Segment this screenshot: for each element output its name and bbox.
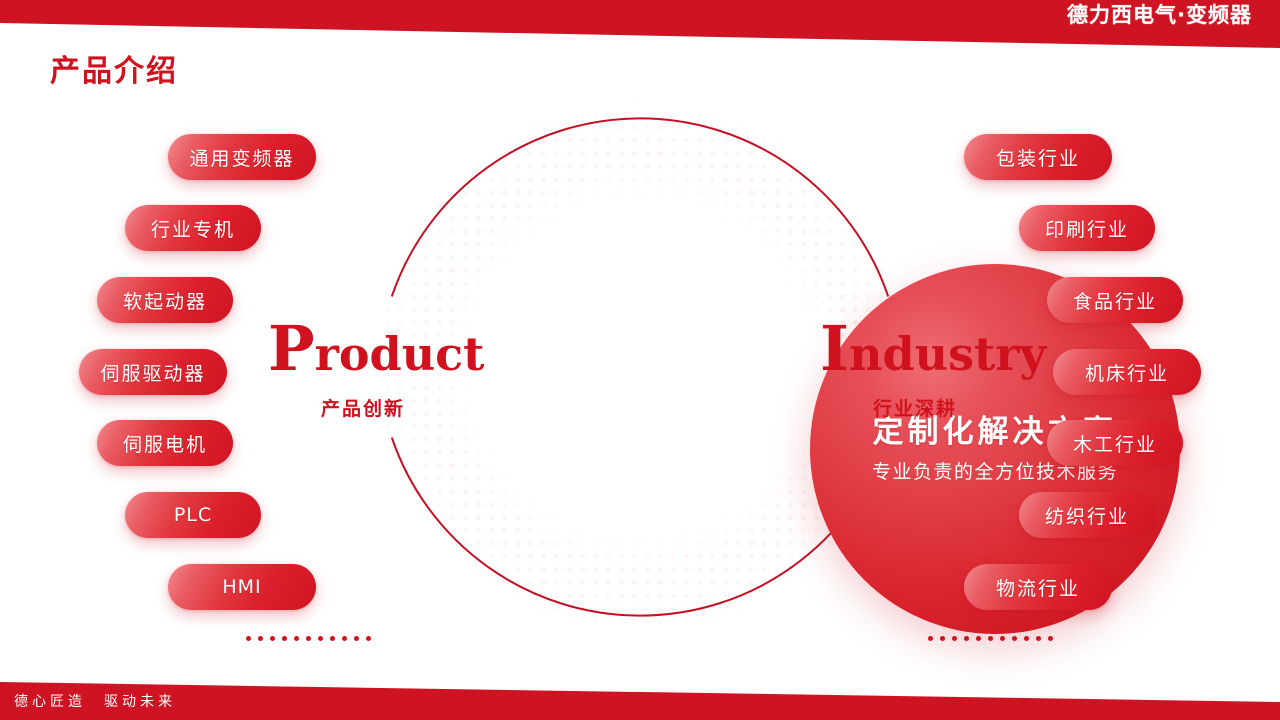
product-pill-3[interactable]: 软起动器 xyxy=(97,277,233,323)
industry-heading-rest: ndustry xyxy=(849,327,1046,381)
industry-pill-4[interactable]: 机床行业 xyxy=(1053,349,1201,395)
product-dots-decoration xyxy=(246,634,371,642)
industry-pill-3[interactable]: 食品行业 xyxy=(1047,277,1183,323)
industry-heading: Industry 行业深耕 xyxy=(820,318,1010,419)
product-pill-2[interactable]: 行业专机 xyxy=(125,205,261,251)
product-heading-cap: P xyxy=(268,312,315,385)
brand-logo: 德力西电气·变频器 xyxy=(1067,5,1252,26)
product-heading: Product 产品创新 xyxy=(268,318,458,419)
product-pill-7[interactable]: HMI xyxy=(168,564,316,610)
industry-dots-decoration xyxy=(928,634,1053,642)
slide-canvas: 德力西电气·变频器 产品介绍 xyxy=(0,0,1280,720)
industry-pill-1[interactable]: 包装行业 xyxy=(964,134,1112,180)
product-heading-rest: roduct xyxy=(315,327,485,381)
product-pill-6[interactable]: PLC xyxy=(125,492,261,538)
product-heading-en: Product xyxy=(268,318,458,380)
footer-band xyxy=(0,670,1280,720)
industry-heading-cn: 行业深耕 xyxy=(820,400,1010,419)
industry-heading-cap: I xyxy=(820,312,849,385)
page-title: 产品介绍 xyxy=(50,54,178,90)
industry-pill-2[interactable]: 印刷行业 xyxy=(1019,205,1155,251)
product-pill-1[interactable]: 通用变频器 xyxy=(168,134,316,180)
product-pill-4[interactable]: 伺服驱动器 xyxy=(79,349,227,395)
product-pill-5[interactable]: 伺服电机 xyxy=(97,420,233,466)
industry-heading-en: Industry xyxy=(820,318,1010,380)
industry-pill-5[interactable]: 木工行业 xyxy=(1047,420,1183,466)
product-heading-cn: 产品创新 xyxy=(268,400,458,419)
footer-slogan: 德心匠造 驱动未来 xyxy=(14,695,176,709)
industry-pill-7[interactable]: 物流行业 xyxy=(964,564,1112,610)
industry-pill-6[interactable]: 纺织行业 xyxy=(1019,492,1155,538)
